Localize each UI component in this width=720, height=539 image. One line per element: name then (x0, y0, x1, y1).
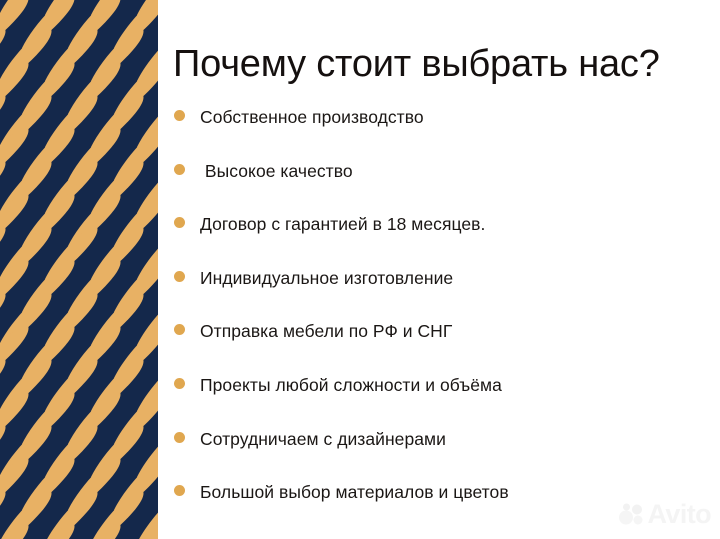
list-item: Отправка мебели по РФ и СНГ (174, 320, 714, 374)
list-item-label: Проекты любой сложности и объёма (200, 374, 502, 396)
list-item: Договор с гарантией в 18 месяцев. (174, 213, 714, 267)
decorative-pattern-panel (0, 0, 158, 539)
list-item-label: Индивидуальное изготовление (200, 267, 453, 289)
list-item: Проекты любой сложности и объёма (174, 374, 714, 428)
list-item-label: Сотрудничаем с дизайнерами (200, 428, 446, 450)
avito-logo-icon (618, 503, 644, 527)
list-item-label: Собственное производство (200, 106, 424, 128)
bullet-dot-icon (174, 217, 185, 228)
bullet-dot-icon (174, 378, 185, 389)
list-item: Высокое качество (174, 160, 714, 214)
bullet-dot-icon (174, 432, 185, 443)
bullet-dot-icon (174, 485, 185, 496)
list-item: Сотрудничаем с дизайнерами (174, 428, 714, 482)
advantages-list: Собственное производство Высокое качеств… (174, 106, 714, 535)
list-item: Индивидуальное изготовление (174, 267, 714, 321)
list-item-label: Высокое качество (200, 160, 353, 182)
list-item-label: Большой выбор материалов и цветов (200, 481, 509, 503)
diagonal-leaf-pattern-icon (0, 0, 158, 539)
bullet-dot-icon (174, 271, 185, 282)
list-item-label: Отправка мебели по РФ и СНГ (200, 320, 452, 342)
slide: Почему стоит выбрать нас? Собственное пр… (0, 0, 720, 539)
avito-watermark-text: Avito (648, 501, 712, 528)
avito-watermark: Avito (618, 501, 712, 528)
bullet-dot-icon (174, 164, 185, 175)
slide-title: Почему стоит выбрать нас? (173, 41, 718, 87)
list-item-label: Договор с гарантией в 18 месяцев. (200, 213, 485, 235)
bullet-dot-icon (174, 110, 185, 121)
list-item: Собственное производство (174, 106, 714, 160)
bullet-dot-icon (174, 324, 185, 335)
